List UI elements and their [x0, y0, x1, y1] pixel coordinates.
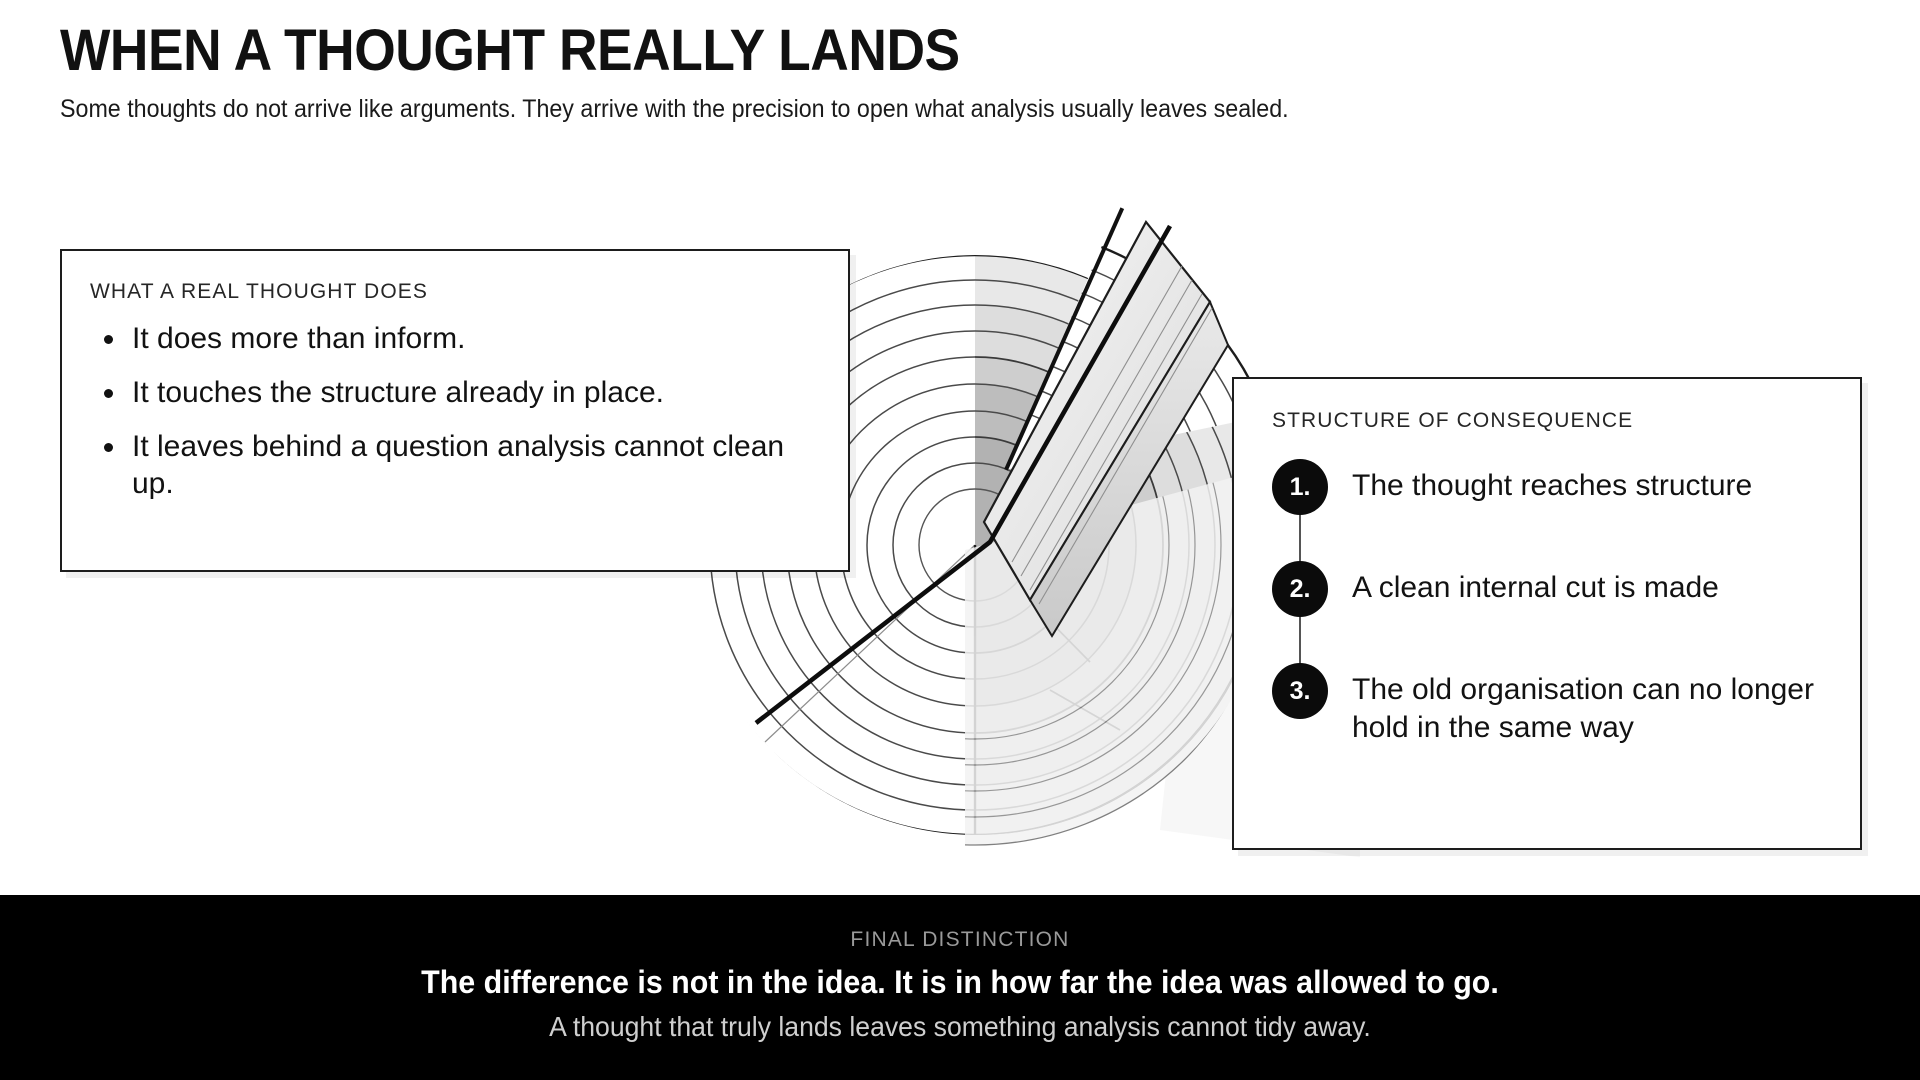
step-label: A clean internal cut is made	[1352, 561, 1719, 607]
step-badge: 1.	[1272, 459, 1328, 515]
banner-headline: The difference is not in the idea. It is…	[48, 964, 1872, 1001]
final-distinction-banner: FINAL DISTINCTION The difference is not …	[0, 895, 1920, 1080]
card-right-kicker: STRUCTURE OF CONSEQUENCE	[1272, 409, 1860, 433]
list-item: 3. The old organisation can no longer ho…	[1234, 663, 1860, 747]
step-label: The thought reaches structure	[1352, 459, 1752, 505]
bullet-list: It does more than inform. It touches the…	[90, 320, 848, 503]
list-item: It leaves behind a question analysis can…	[90, 428, 790, 504]
step-badge: 2.	[1272, 561, 1328, 617]
header: WHEN A THOUGHT REALLY LANDS Some thought…	[60, 22, 1880, 124]
card-what-a-real-thought-does: WHAT A REAL THOUGHT DOES It does more th…	[60, 249, 850, 572]
step-badge: 3.	[1272, 663, 1328, 719]
slide-canvas: WHEN A THOUGHT REALLY LANDS Some thought…	[0, 0, 1920, 1080]
list-item: It touches the structure already in plac…	[90, 374, 790, 412]
card-left-kicker: WHAT A REAL THOUGHT DOES	[90, 280, 848, 304]
list-item: 1. The thought reaches structure	[1234, 459, 1860, 515]
banner-subline: A thought that truly lands leaves someth…	[48, 1011, 1872, 1043]
step-list: 1. The thought reaches structure 2. A cl…	[1234, 459, 1860, 747]
step-label: The old organisation can no longer hold …	[1352, 663, 1822, 747]
banner-kicker: FINAL DISTINCTION	[0, 928, 1920, 952]
page-title: WHEN A THOUGHT REALLY LANDS	[60, 22, 1734, 80]
list-item: It does more than inform.	[90, 320, 790, 358]
list-item: 2. A clean internal cut is made	[1234, 561, 1860, 617]
page-subtitle: Some thoughts do not arrive like argumen…	[60, 94, 1753, 124]
card-structure-of-consequence: STRUCTURE OF CONSEQUENCE 1. The thought …	[1232, 377, 1862, 850]
